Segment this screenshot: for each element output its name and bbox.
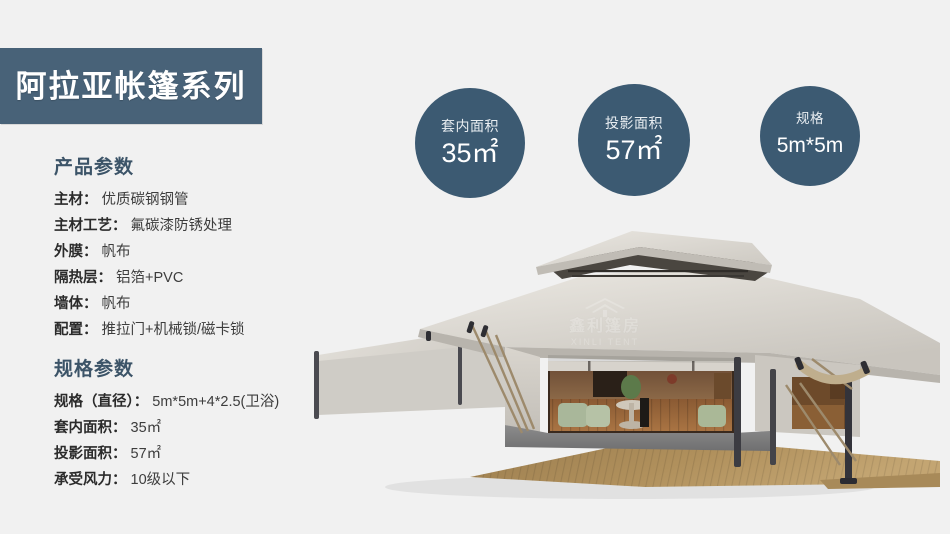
badge-label: 投影面积 <box>605 114 663 132</box>
spec-key: 配置： <box>54 322 98 338</box>
support-post-far-right <box>845 377 852 482</box>
spec-key: 主材： <box>54 192 98 208</box>
badge-label: 规格 <box>796 110 824 128</box>
badge-value: 57㎡ <box>605 134 662 166</box>
spec-key: 隔热层： <box>54 270 112 286</box>
spec-value: 铝箔+PVC <box>116 270 183 286</box>
spec-value: 帆布 <box>102 244 131 260</box>
spec-key: 主材工艺： <box>54 218 127 234</box>
spec-row: 主材： 优质碳钢钢管 <box>54 187 354 213</box>
badge-projected-area: 投影面积 57㎡ <box>578 84 690 196</box>
spec-key: 承受风力： <box>54 472 127 488</box>
left-wing-post <box>314 351 319 419</box>
title-banner: 阿拉亚帐篷系列 <box>0 48 262 124</box>
post-foot-right <box>840 478 857 484</box>
spec-value: 推拉门+机械锁/磁卡锁 <box>102 322 245 338</box>
spec-key: 外膜： <box>54 244 98 260</box>
product-section-heading: 产品参数 <box>54 155 354 181</box>
left-wing-post-2 <box>458 339 462 405</box>
spec-value: 10级以下 <box>131 472 191 488</box>
tent-render-svg <box>300 225 950 525</box>
page-title: 阿拉亚帐篷系列 <box>16 71 247 102</box>
spec-value: 优质碳钢钢管 <box>102 192 189 208</box>
badge-dimensions: 规格 5m*5m <box>760 86 860 186</box>
badge-value: 35㎡ <box>441 137 498 169</box>
badge-interior-area: 套内面积 35㎡ <box>415 88 525 198</box>
spec-value: 5m*5m+4*2.5(卫浴) <box>152 394 279 410</box>
support-post-right <box>770 369 776 465</box>
spec-value: 帆布 <box>102 296 131 312</box>
support-post-center <box>734 357 741 467</box>
spec-value: 57㎡ <box>131 446 162 462</box>
badge-label: 套内面积 <box>441 117 499 135</box>
spec-key: 套内面积： <box>54 420 127 436</box>
spec-key: 规格（直径）： <box>54 394 148 410</box>
slide-canvas: 阿拉亚帐篷系列 产品参数 主材： 优质碳钢钢管 主材工艺： 氟碳漆防锈处理 外膜… <box>0 0 950 534</box>
spec-key: 墙体： <box>54 296 98 312</box>
spec-value: 35㎡ <box>131 420 162 436</box>
spec-key: 投影面积： <box>54 446 127 462</box>
spec-value: 氟碳漆防锈处理 <box>131 218 233 234</box>
badge-value: 5m*5m <box>777 130 844 162</box>
window-mullion-left <box>588 361 591 371</box>
tent-illustration <box>300 225 950 525</box>
